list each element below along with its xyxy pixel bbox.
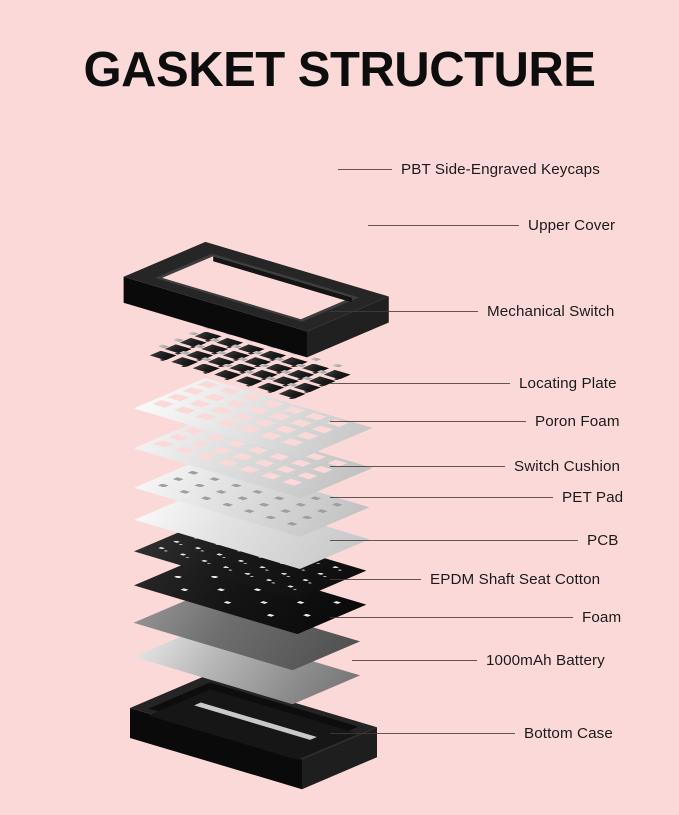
callout-pet-pad: PET Pad xyxy=(330,487,623,507)
leader-line-pet-pad xyxy=(330,497,553,498)
callout-upper-cover: Upper Cover xyxy=(368,215,615,235)
leader-line-switch-cushion xyxy=(330,466,505,467)
leader-line-mechanical-switch xyxy=(330,311,478,312)
callout-pcb: PCB xyxy=(330,530,619,550)
callout-label-foam: Foam xyxy=(582,609,621,626)
leader-line-poron-foam xyxy=(330,421,526,422)
leader-line-locating-plate xyxy=(330,383,510,384)
callout-pbt-keycaps: PBT Side-Engraved Keycaps xyxy=(338,159,600,179)
leader-line-bottom-case xyxy=(330,733,515,734)
callout-switch-cushion: Switch Cushion xyxy=(330,456,620,476)
callout-label-poron-foam: Poron Foam xyxy=(535,413,620,430)
leader-line-pcb xyxy=(330,540,578,541)
leader-line-pbt-keycaps xyxy=(338,169,392,170)
callout-mechanical-switch: Mechanical Switch xyxy=(330,301,614,321)
leader-line-battery xyxy=(352,660,477,661)
callout-label-epdm-cotton: EPDM Shaft Seat Cotton xyxy=(430,571,600,588)
callout-foam: Foam xyxy=(330,607,621,627)
callout-label-list: PBT Side-Engraved KeycapsUpper CoverMech… xyxy=(0,0,679,815)
callout-poron-foam: Poron Foam xyxy=(330,411,620,431)
callout-battery: 1000mAh Battery xyxy=(352,650,605,670)
callout-label-locating-plate: Locating Plate xyxy=(519,375,617,392)
callout-label-pbt-keycaps: PBT Side-Engraved Keycaps xyxy=(401,161,600,178)
callout-label-pcb: PCB xyxy=(587,532,619,549)
callout-label-upper-cover: Upper Cover xyxy=(528,217,615,234)
callout-label-mechanical-switch: Mechanical Switch xyxy=(487,303,614,320)
callout-label-pet-pad: PET Pad xyxy=(562,489,623,506)
callout-label-bottom-case: Bottom Case xyxy=(524,725,613,742)
callout-epdm-cotton: EPDM Shaft Seat Cotton xyxy=(330,569,600,589)
leader-line-epdm-cotton xyxy=(330,579,421,580)
leader-line-upper-cover xyxy=(368,225,519,226)
leader-line-foam xyxy=(330,617,573,618)
callout-label-battery: 1000mAh Battery xyxy=(486,652,605,669)
callout-label-switch-cushion: Switch Cushion xyxy=(514,458,620,475)
callout-locating-plate: Locating Plate xyxy=(330,373,617,393)
callout-bottom-case: Bottom Case xyxy=(330,723,613,743)
